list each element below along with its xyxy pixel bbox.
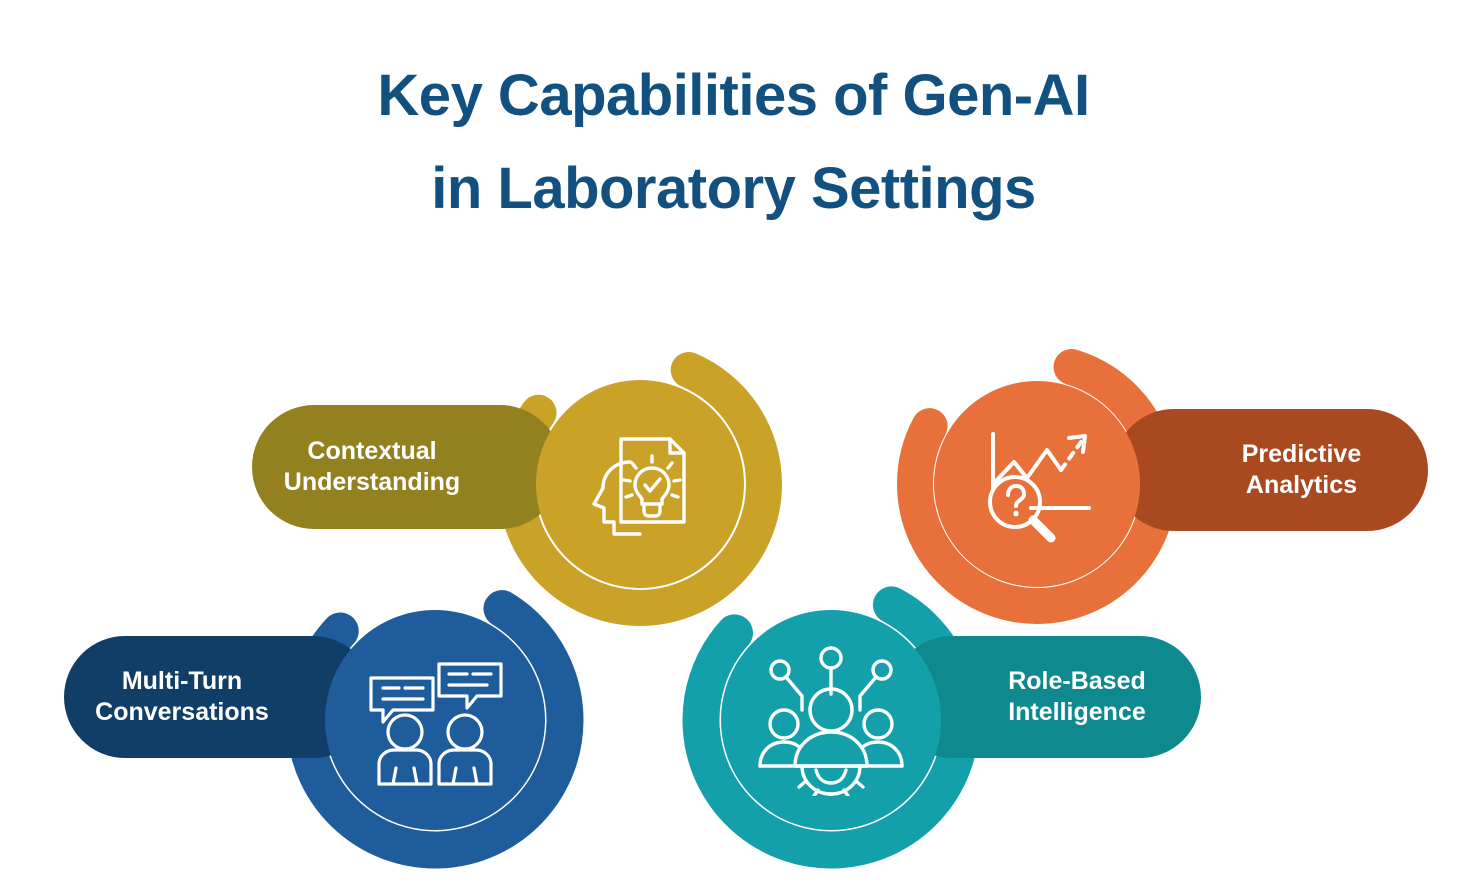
label-text-multi-turn-conversations: Multi-Turn Conversations [95, 666, 269, 729]
label-text-contextual-understanding: Contextual Understanding [284, 436, 460, 499]
node-multi-turn-conversations: Multi-Turn Conversations [285, 570, 585, 870]
label-pill-contextual-understanding[interactable]: Contextual Understanding [252, 405, 562, 529]
label-text-predictive-analytics: Predictive Analytics [1242, 439, 1362, 502]
page-title: Key Capabilities of Gen-AI in Laboratory… [0, 50, 1467, 236]
label-pill-predictive-analytics[interactable]: Predictive Analytics [1113, 409, 1428, 531]
label-text-role-based-intelligence: Role-Based Intelligence [1008, 666, 1146, 729]
head-document-lightbulb-check-icon [566, 410, 714, 558]
magnifier-question-trendline-icon [960, 407, 1114, 561]
infographic-canvas: Key Capabilities of Gen-AI in Laboratory… [0, 0, 1467, 885]
page-title-line-1: Key Capabilities of Gen-AI [0, 50, 1467, 143]
people-network-gear-icon [751, 636, 911, 804]
page-title-line-2: in Laboratory Settings [0, 143, 1467, 236]
two-people-speech-bubbles-icon [353, 638, 517, 802]
node-role-based-intelligence: Role-Based Intelligence [681, 570, 981, 870]
